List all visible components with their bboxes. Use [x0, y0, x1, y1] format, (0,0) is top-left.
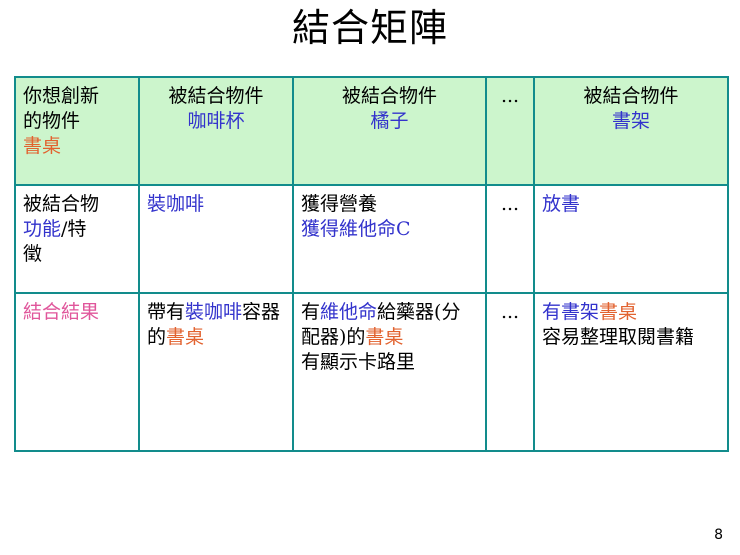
result-label: 結合結果: [23, 300, 131, 325]
result-cell-ellipsis: ...: [486, 293, 534, 451]
feature-label-function: 功能: [23, 218, 61, 240]
header-cell-ellipsis: ...: [486, 77, 534, 185]
feature-cell-1: 裝咖啡: [139, 185, 293, 293]
result-2-seg2: 維他命: [320, 301, 377, 323]
header-innovation-line2: 的物件: [23, 109, 131, 134]
feature-3-text: 放書: [542, 192, 720, 217]
table-row-result: 結合結果 帶有裝咖啡容器的書桌 有維他命給藥器(分配器)的書桌有顯示卡路里 ..…: [15, 293, 728, 451]
page-number: 8: [714, 527, 723, 543]
header-combined-1-value: 咖啡杯: [147, 109, 285, 134]
header-cell-combined-object-1: 被結合物件 咖啡杯: [139, 77, 293, 185]
result-cell-2: 有維他命給藥器(分配器)的書桌有顯示卡路里: [293, 293, 486, 451]
result-3-seg3: 容易整理取閱書籍: [542, 325, 720, 350]
result-3-seg2: 書桌: [599, 301, 637, 323]
feature-cell-ellipsis: ...: [486, 185, 534, 293]
ellipsis-icon: ...: [494, 84, 526, 109]
header-combined-2-label: 被結合物件: [301, 84, 478, 109]
result-2-seg1: 有: [301, 301, 320, 323]
table-row-feature: 被結合物 功能/特 徵 裝咖啡 獲得營養 獲得維他命C ... 放書: [15, 185, 728, 293]
feature-label-line3: 徵: [23, 242, 131, 267]
feature-2-line1: 獲得營養: [301, 192, 478, 217]
header-combined-3-value: 書架: [542, 109, 720, 134]
header-combined-1-label: 被結合物件: [147, 84, 285, 109]
header-cell-innovation-object: 你想創新 的物件 書桌: [15, 77, 139, 185]
result-1-seg1: 帶有: [147, 301, 185, 323]
result-1-seg4: 書桌: [166, 326, 204, 348]
result-cell-3: 有書架書桌 容易整理取閱書籍: [534, 293, 728, 451]
header-cell-combined-object-2: 被結合物件 橘子: [293, 77, 486, 185]
result-cell-label: 結合結果: [15, 293, 139, 451]
ellipsis-icon: ...: [494, 300, 526, 325]
feature-cell-label: 被結合物 功能/特 徵: [15, 185, 139, 293]
combination-matrix-table: 你想創新 的物件 書桌 被結合物件 咖啡杯 被結合物件 橘子 ... 被結合物件: [14, 76, 729, 452]
feature-label-line1: 被結合物: [23, 192, 131, 217]
feature-label-trait: /特: [61, 218, 86, 240]
ellipsis-icon: ...: [494, 192, 526, 217]
result-1-seg2: 裝咖啡: [185, 301, 242, 323]
slide-canvas: 結合矩陣 你想創新 的物件 書桌 被結合物件 咖啡杯 被結合物件: [0, 0, 740, 555]
header-combined-3-label: 被結合物件: [542, 84, 720, 109]
feature-1-text: 裝咖啡: [147, 192, 285, 217]
feature-2-line2: 獲得維他命C: [301, 217, 478, 242]
table-row-header: 你想創新 的物件 書桌 被結合物件 咖啡杯 被結合物件 橘子 ... 被結合物件: [15, 77, 728, 185]
header-innovation-subject: 書桌: [23, 134, 131, 159]
result-cell-1: 帶有裝咖啡容器的書桌: [139, 293, 293, 451]
header-cell-combined-object-3: 被結合物件 書架: [534, 77, 728, 185]
feature-cell-3: 放書: [534, 185, 728, 293]
result-2-seg4: 書桌: [365, 326, 403, 348]
result-3-seg1: 有書架: [542, 301, 599, 323]
feature-cell-2: 獲得營養 獲得維他命C: [293, 185, 486, 293]
page-title: 結合矩陣: [0, 6, 740, 52]
header-innovation-line1: 你想創新: [23, 84, 131, 109]
header-combined-2-value: 橘子: [301, 109, 478, 134]
result-2-seg5: 有顯示卡路里: [301, 350, 478, 375]
